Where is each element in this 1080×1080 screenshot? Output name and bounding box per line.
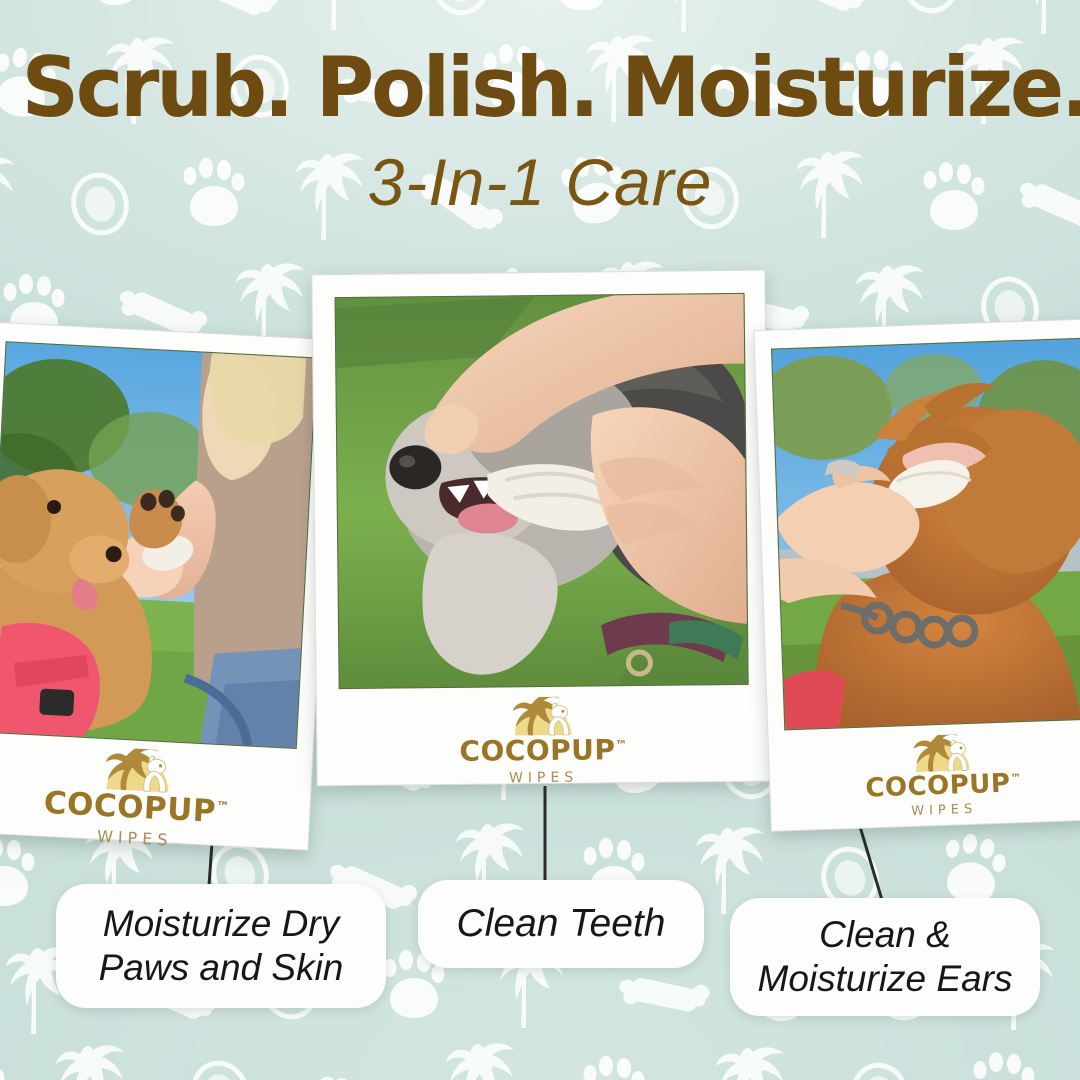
page-subtitle: 3-In-1 Care bbox=[0, 149, 1080, 215]
brand-logo-left: COCOPUP™ WIPES bbox=[0, 740, 312, 856]
cocopup-logo-icon bbox=[507, 697, 579, 738]
cocopup-logo-icon bbox=[908, 734, 977, 774]
headline-block: Scrub. Polish. Moisturize. 3-In-1 Care bbox=[0, 46, 1080, 215]
brand-wordmark: COCOPUP™ bbox=[865, 770, 1022, 801]
photo-card-moisturize-paws[interactable]: COCOPUP™ WIPES bbox=[0, 321, 335, 851]
caption-line: Moisturize Dry bbox=[103, 903, 339, 944]
photo-card-clean-ears[interactable]: COCOPUP™ WIPES bbox=[753, 318, 1080, 832]
brand-logo-center: COCOPUP™ WIPES bbox=[317, 695, 770, 788]
caption-clean-teeth[interactable]: Clean Teeth bbox=[418, 880, 704, 968]
caption-moisturize-paws[interactable]: Moisturize Dry Paws and Skin bbox=[56, 884, 386, 1008]
caption-clean-ears[interactable]: Clean & Moisturize Ears bbox=[730, 898, 1040, 1016]
photo-card-clean-teeth[interactable]: COCOPUP™ WIPES bbox=[311, 270, 770, 787]
caption-line: Clean Teeth bbox=[457, 901, 666, 947]
photo-moisturize-paws bbox=[0, 341, 317, 749]
poster-canvas: Scrub. Polish. Moisturize. 3-In-1 Care bbox=[0, 0, 1080, 1080]
brand-subword: WIPES bbox=[771, 798, 1080, 823]
brand-wordmark: COCOPUP™ bbox=[459, 736, 627, 766]
page-title: Scrub. Polish. Moisturize. bbox=[22, 46, 1059, 129]
caption-line: Moisturize Ears bbox=[758, 958, 1013, 999]
caption-line: Paws and Skin bbox=[99, 947, 344, 988]
photo-clean-teeth bbox=[335, 293, 749, 689]
caption-line: Clean & bbox=[819, 914, 951, 955]
brand-wordmark: COCOPUP™ bbox=[43, 788, 230, 829]
brand-logo-right: COCOPUP™ WIPES bbox=[769, 729, 1080, 823]
photo-clean-ears bbox=[771, 338, 1080, 731]
